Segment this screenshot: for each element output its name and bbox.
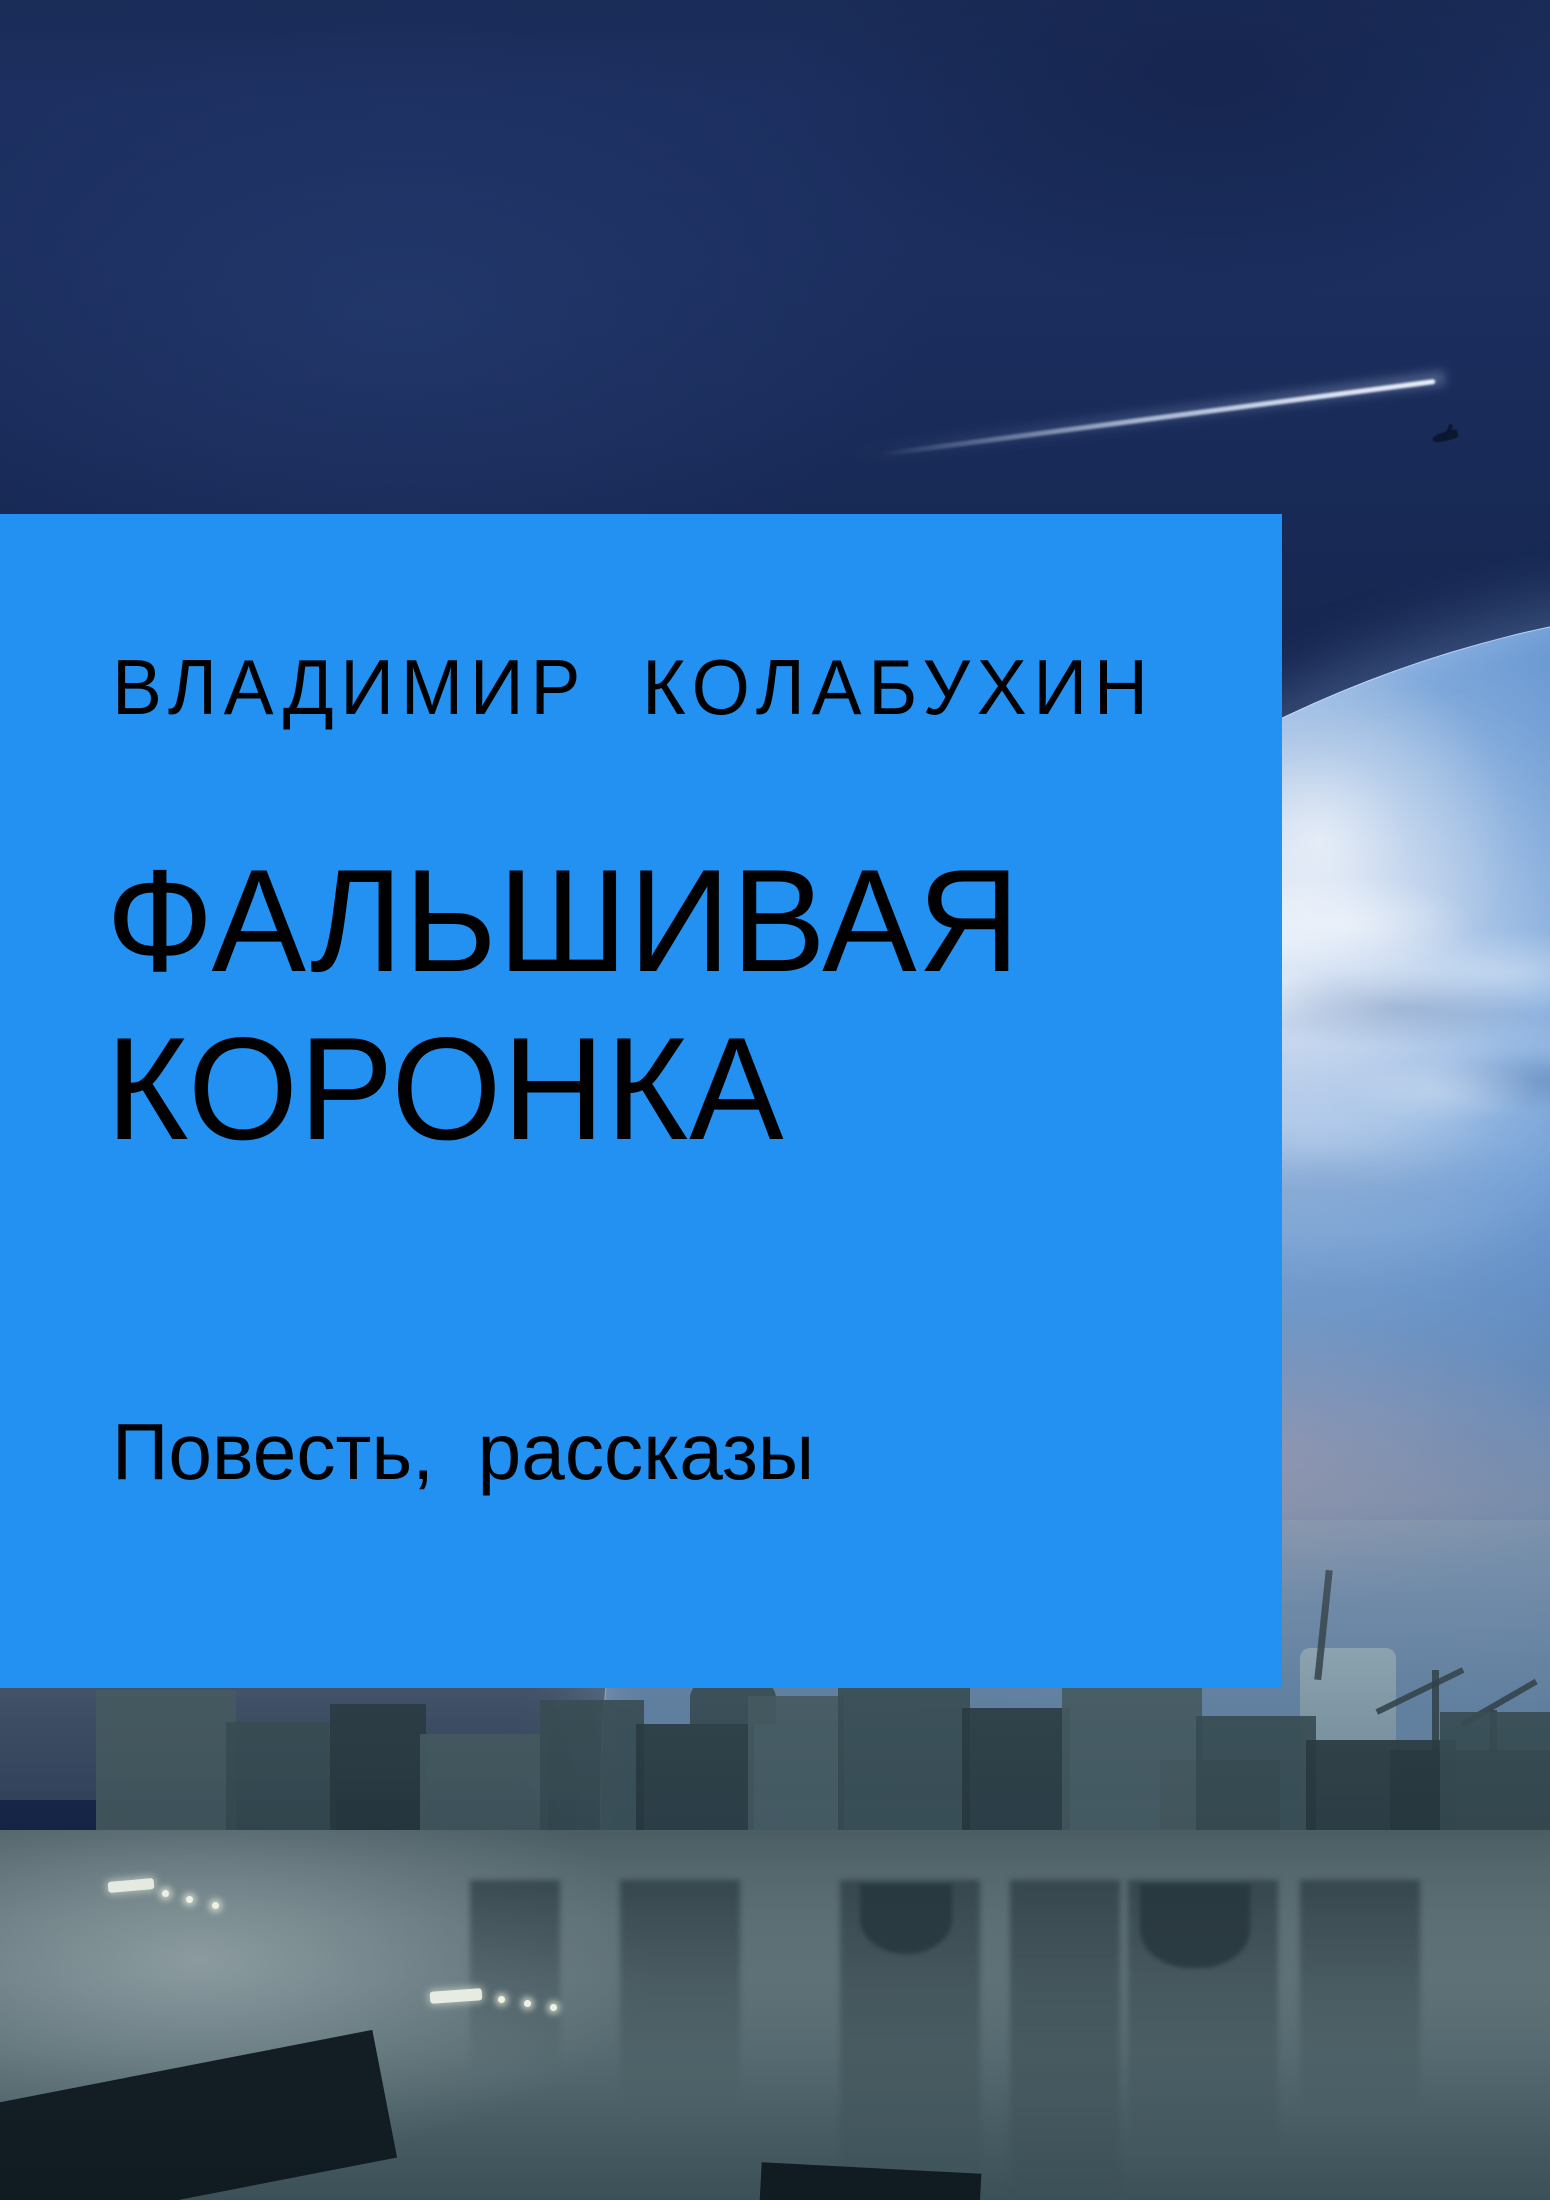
- book-title-line-2: КОРОНКА: [106, 1016, 785, 1162]
- author-name: ВЛАДИМИР КОЛАБУХИН: [112, 648, 1155, 726]
- lamp-light: [524, 2000, 531, 2007]
- lamp-light: [186, 1896, 193, 1903]
- lamp-light: [162, 1890, 169, 1897]
- book-title-line-1: ФАЛЬШИВАЯ: [106, 848, 1021, 994]
- reflection-dome: [860, 1884, 952, 1954]
- lamp-light: [498, 1996, 505, 2003]
- lamp-light: [550, 2004, 557, 2011]
- reflection: [620, 1880, 740, 2100]
- reflection: [1300, 1880, 1420, 2110]
- reflection-dome: [1140, 1884, 1250, 1968]
- lamp-light: [212, 1902, 219, 1909]
- reflection: [470, 1880, 560, 2070]
- book-cover: ВЛАДИМИР КОЛАБУХИН ФАЛЬШИВАЯ КОРОНКА Пов…: [0, 0, 1550, 2200]
- book-subtitle: Повесть, рассказы: [112, 1412, 814, 1492]
- reflection: [1010, 1880, 1120, 2200]
